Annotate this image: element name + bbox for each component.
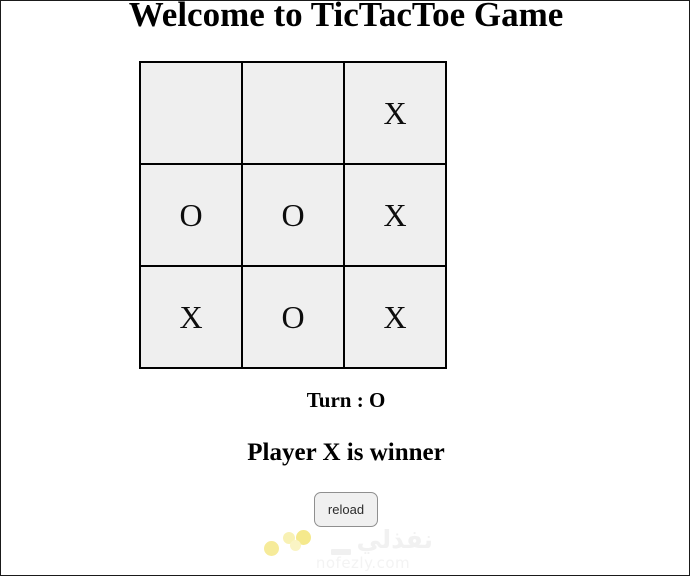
board-row: X	[140, 62, 446, 164]
cell-0-0[interactable]	[140, 62, 242, 164]
cell-1-0[interactable]: O	[140, 164, 242, 266]
cell-1-1[interactable]: O	[242, 164, 344, 266]
reload-button[interactable]: reload	[314, 492, 378, 527]
winner-message: Player X is winner	[1, 438, 690, 468]
watermark-arabic-text: نفذلي	[317, 525, 433, 555]
cell-2-1[interactable]: O	[242, 266, 344, 368]
cell-0-1[interactable]	[242, 62, 344, 164]
page-title: Welcome to TicTacToe Game	[1, 0, 690, 35]
watermark-dot-icon	[283, 532, 295, 544]
cell-0-2[interactable]: X	[344, 62, 446, 164]
board-row: X O X	[140, 266, 446, 368]
cell-2-0[interactable]: X	[140, 266, 242, 368]
watermark-dot-icon	[296, 530, 311, 545]
turn-indicator: Turn : O	[1, 387, 690, 413]
cell-2-2[interactable]: X	[344, 266, 446, 368]
board-row: O O X	[140, 164, 446, 266]
watermark-dot-icon	[264, 541, 279, 556]
watermark-dot-icon	[290, 540, 301, 551]
board-table: X O O X X O X	[139, 61, 447, 369]
watermark-domain-text: nofezly.com	[293, 553, 433, 573]
watermark-bar-icon	[331, 549, 351, 555]
cell-1-2[interactable]: X	[344, 164, 446, 266]
tictactoe-page: Welcome to TicTacToe Game X O O X X O X	[0, 0, 690, 576]
tictactoe-board: X O O X X O X	[139, 61, 441, 362]
watermark-dots-icon	[263, 527, 325, 553]
watermark-logo: نفذلي nofezly.com	[263, 525, 433, 576]
controls-row: reload	[1, 492, 690, 527]
